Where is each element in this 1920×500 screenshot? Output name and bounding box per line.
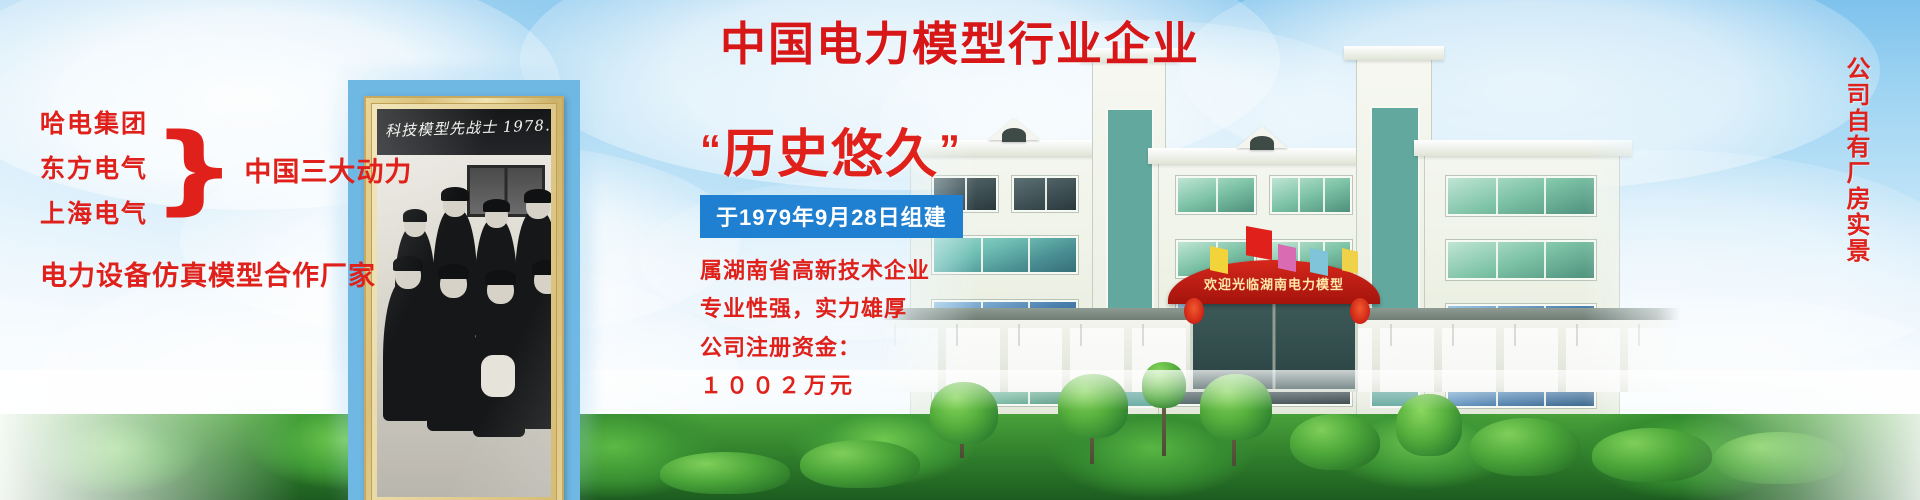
registered-capital-amount: １００２万元: [700, 367, 963, 406]
photo-person: [383, 281, 431, 421]
quote-open: “: [700, 126, 723, 173]
slogan-text: 历史悠久: [723, 126, 939, 184]
roof-dormer: [988, 118, 1040, 140]
bush: [800, 440, 920, 488]
founding-date-badge: 于1979年9月28日组建: [700, 195, 963, 238]
brace-label: 中国三大动力: [244, 150, 412, 189]
cornice: [1414, 140, 1632, 156]
partner-list: 哈电集团 东方电气 上海电气: [40, 110, 148, 228]
promo-banner: 欢迎光临湖南电力模型 中国电力模型行: [0, 0, 1920, 500]
photo-person-hair: [485, 270, 516, 285]
flag-yellow: [1342, 248, 1358, 274]
photo-white-garment: [481, 355, 515, 397]
partner-item: 东方电气: [40, 155, 148, 184]
partner-item: 哈电集团: [40, 110, 148, 139]
partners-block: 哈电集团 东方电气 上海电气 } 中国三大动力 电力设备仿真模型合作厂家: [40, 110, 412, 293]
partner-item: 上海电气: [40, 200, 148, 229]
window: [1446, 176, 1596, 216]
bush: [660, 452, 790, 494]
window: [1270, 176, 1352, 214]
red-lantern: [1350, 298, 1370, 324]
partners-row: 哈电集团 东方电气 上海电气 } 中国三大动力: [40, 110, 412, 228]
photo-person-hair: [438, 264, 469, 279]
roof-dormer: [1236, 126, 1288, 148]
red-lantern: [1184, 298, 1204, 324]
bush: [1470, 418, 1580, 476]
flag-yellow: [1210, 246, 1228, 274]
quote-close: ”: [939, 126, 962, 173]
fact-item: 属湖南省高新技术企业: [700, 252, 963, 291]
fact-item: 专业性强，实力雄厚: [700, 290, 963, 329]
cornice: [1148, 148, 1380, 164]
history-block: “历史悠久” 于1979年9月28日组建 属湖南省高新技术企业 专业性强，实力雄…: [700, 128, 963, 406]
entrance-sign-text: 欢迎光临湖南电力模型: [1168, 274, 1380, 293]
partners-footer: 电力设备仿真模型合作厂家: [40, 254, 412, 293]
window: [1012, 176, 1078, 212]
vertical-caption: 公司自有厂房实景: [1832, 56, 1878, 264]
photo-person-hair: [483, 199, 510, 212]
flag-pink: [1278, 244, 1296, 272]
curly-brace-icon: }: [151, 125, 236, 213]
banner-title: 中国电力模型行业企业: [0, 8, 1920, 74]
bush: [1290, 414, 1380, 470]
flag-red: [1246, 226, 1272, 260]
photo-person: [427, 291, 477, 431]
company-facts: 属湖南省高新技术企业 专业性强，实力雄厚 公司注册资金： １００２万元: [700, 252, 963, 406]
fact-item: 公司注册资金：: [700, 329, 963, 368]
photo-person-hair: [524, 189, 551, 203]
window: [1446, 240, 1596, 280]
window: [1176, 176, 1256, 214]
flag-cyan: [1310, 248, 1328, 276]
photo-person-hair: [441, 187, 469, 201]
photo-person-hair: [532, 260, 551, 275]
history-slogan: “历史悠久”: [700, 128, 963, 183]
